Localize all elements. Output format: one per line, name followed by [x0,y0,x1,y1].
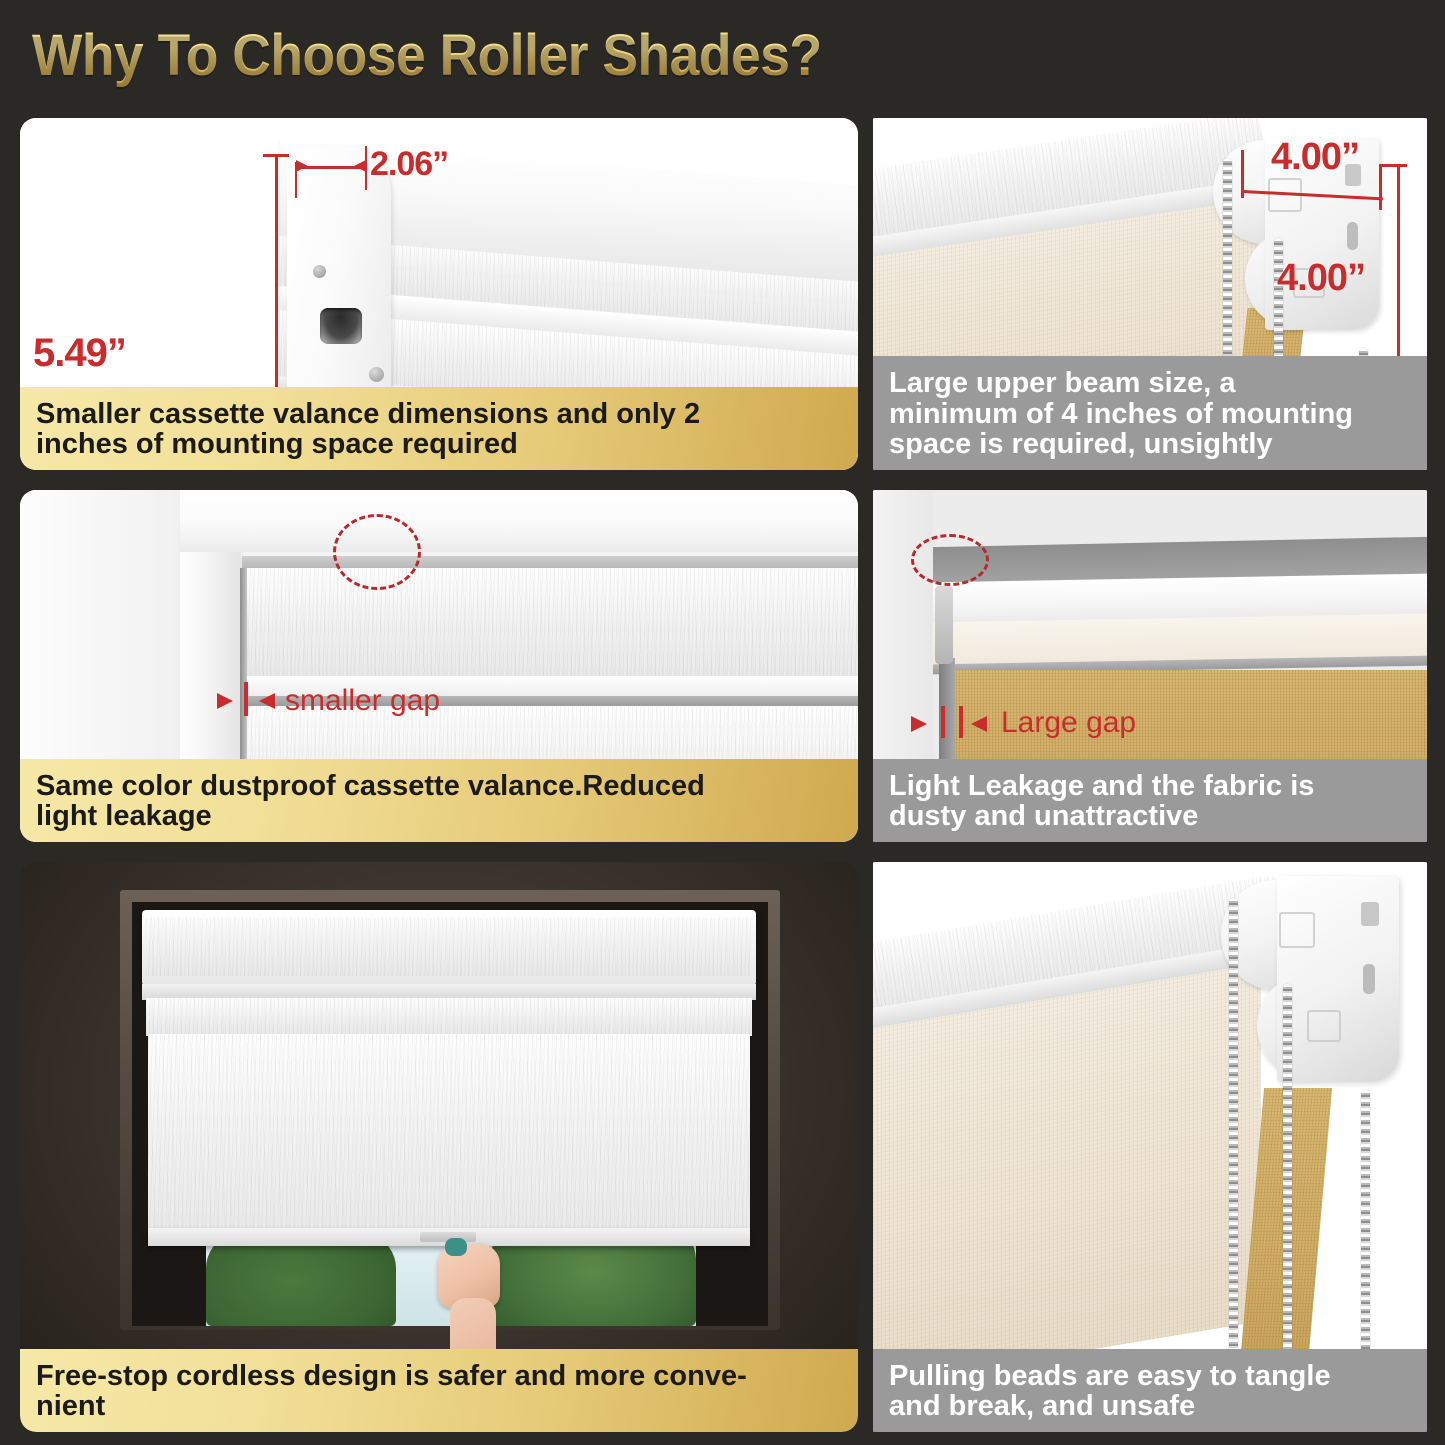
bracket-emblem-bottom-icon [1307,1010,1341,1042]
gap-arrow-right-icon [971,716,987,732]
gap-arrow-right-icon [259,693,275,709]
gap-arrow-left-icon [911,716,927,732]
shade-fabric [873,963,1261,1388]
bracket-plate [1277,876,1399,1082]
highlight-circle-icon [333,514,421,590]
caption-middle-left: Same color dustproof cassette valance.Re… [20,759,858,842]
caption-line: Smaller cassette valance dimensions and … [36,399,842,430]
bracket-slot-bottom [1363,964,1375,994]
bracket-slot-bottom [1347,222,1358,250]
caption-line: space is required, unsightly [889,429,1411,460]
dim-width-arrow-right-icon [354,160,366,172]
gap-arrow-left-icon [217,693,233,709]
dim-v-tick-top [1379,164,1407,167]
dimension-label-beam-height: 4.00” [1277,257,1365,300]
caption-line: light leakage [36,801,842,832]
bead-chain-middle [1283,984,1292,1392]
caption-middle-right: Light Leakage and the fabric is dusty an… [873,759,1427,842]
gap-marker-bar [244,682,248,716]
bracket-emblem-top-icon [1279,912,1315,948]
panel-bottom-right-image [873,862,1427,1432]
gap-label-large: Large gap [1001,706,1136,740]
caption-bottom-left: Free-stop cordless design is safer and m… [20,1349,858,1432]
panel-bottom-left-image [20,862,858,1432]
caption-line: Light Leakage and the fabric is [889,771,1411,802]
caption-line: Large upper beam size, a [889,368,1411,399]
bracket-slot-top [1361,902,1379,926]
valance-fabric [242,568,858,678]
valance-fabric [146,918,752,976]
caption-line: dusty and unattractive [889,801,1411,832]
caption-line: minimum of 4 inches of mounting [889,399,1411,430]
panel-bottom-left: Free-stop cordless design is safer and m… [20,862,858,1432]
caption-top-right: Large upper beam size, a minimum of 4 in… [873,356,1427,470]
caption-line: Pulling beads are easy to tangle [889,1361,1411,1392]
panel-bottom-right: Pulling beads are easy to tangle and bre… [873,862,1427,1432]
bead-chain-left [1229,898,1238,1392]
dimension-label-width: 2.06” [370,145,448,184]
caption-line: nient [36,1391,842,1422]
bracket-clip [935,586,953,664]
dimension-label-height: 5.49” [33,331,126,376]
gap-marker-bar-1 [941,706,945,738]
caption-line: Free-stop cordless design is safer and m… [36,1361,842,1392]
clutch-opening [320,308,362,344]
panel-middle-right: Large gap Light Leakage and the fabric i… [873,490,1427,842]
dim-width-arrow-left-icon [296,160,308,172]
dimension-label-beam-width: 4.00” [1271,136,1359,179]
gap-marker-bar-2 [959,706,963,738]
infographic-page: Why To Choose Roller Shades? 2.06” [0,0,1445,1445]
dim-h-tick-right [1379,166,1382,210]
panel-top-left: 2.06” 5.49” Smaller cassette valance dim… [20,118,858,470]
highlight-circle-icon [911,534,989,586]
dim-height-tick-top [263,154,289,157]
window-frame-top [180,490,858,552]
bead-chain-right [1361,1090,1370,1392]
pull-grip [445,1238,467,1256]
panel-top-right: 4.00” 4.00” Large upper beam size, a min… [873,118,1427,470]
shade-fabric [148,1034,750,1242]
screw-top [313,265,326,278]
page-title: Why To Choose Roller Shades? [32,22,822,89]
caption-top-left: Smaller cassette valance dimensions and … [20,387,858,470]
panel-middle-left: smaller gap Same color dustproof cassett… [20,490,858,842]
screw-middle [369,367,384,382]
caption-bottom-right: Pulling beads are easy to tangle and bre… [873,1349,1427,1432]
gap-label-smaller: smaller gap [285,684,440,718]
caption-line: inches of mounting space required [36,429,842,460]
caption-line: Same color dustproof cassette valance.Re… [36,771,842,802]
valance-second-band [146,998,752,1036]
caption-line: and break, and unsafe [889,1391,1411,1422]
